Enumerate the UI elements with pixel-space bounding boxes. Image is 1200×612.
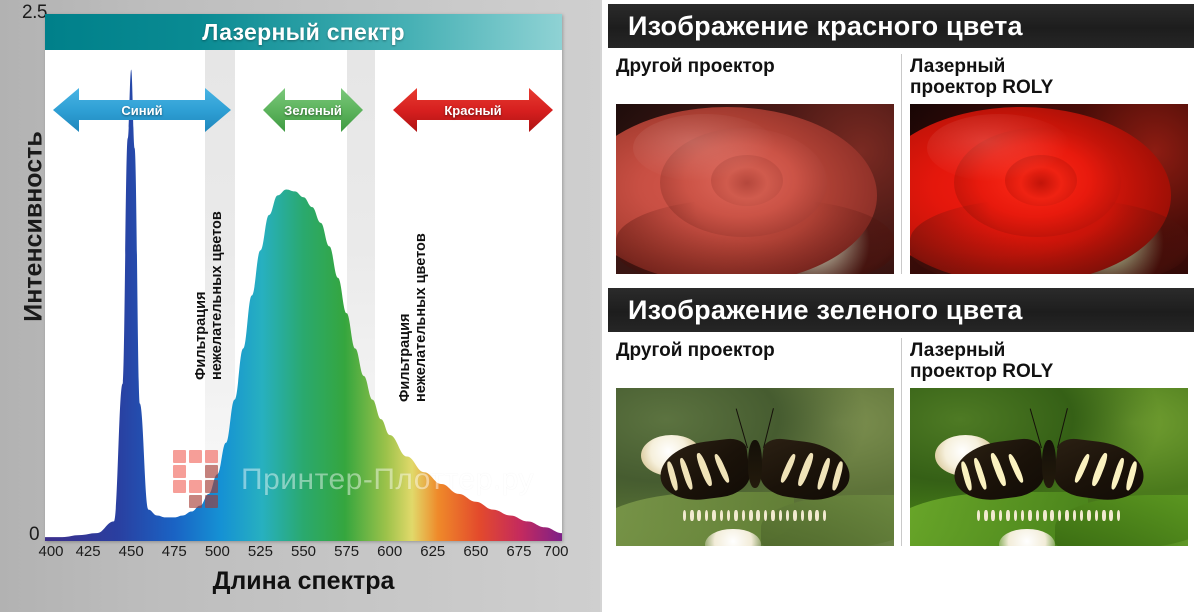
x-tick-525: 525 [248, 543, 273, 560]
filter-caption-2-line2: нежелательных цветов [413, 233, 429, 402]
photo-rose-other-projector [616, 104, 894, 274]
butterfly-wing-stripe [1007, 452, 1025, 483]
x-axis-ticks: 400425450475500525550575600625650675700 [45, 543, 562, 563]
butterfly-wing-stripe [973, 456, 989, 489]
block-header-red: Изображение красного цвета [608, 4, 1194, 48]
filter-caption-2: Фильтрация нежелательных цветов [397, 233, 429, 402]
spectrum-chart-panel: 2.5 0 Интенсивность Лазерный спектр [0, 0, 600, 612]
compare-title-roly-red: Лазерныйпроектор ROLY [910, 54, 1186, 100]
chart-title-bar: Лазерный спектр [45, 14, 562, 50]
x-tick-600: 600 [377, 543, 402, 560]
arrow-green-label: Зеленый [284, 103, 342, 118]
x-tick-625: 625 [420, 543, 445, 560]
x-tick-700: 700 [543, 543, 568, 560]
butterfly-wing-stripe [830, 460, 844, 490]
butterfly-wing-stripe [1109, 456, 1125, 489]
x-tick-475: 475 [162, 543, 187, 560]
photo-butterfly-other-projector [616, 388, 894, 546]
chart-title: Лазерный спектр [202, 19, 405, 46]
arrow-red: Красный [393, 84, 553, 136]
photo-rose-roly-projector [910, 104, 1188, 274]
block-header-green: Изображение зеленого цвета [608, 288, 1194, 332]
compare-row-green: Другой проектор Лазе [602, 332, 1200, 546]
butterfly-wing-stripe [815, 456, 831, 489]
compare-col-other-red: Другой проектор [608, 54, 901, 274]
compare-title-other-red: Другой проектор [616, 54, 893, 100]
butterfly-wing-stripe [713, 452, 731, 483]
arrow-green: Зеленый [263, 84, 363, 136]
butterfly-wing-stripe [679, 456, 695, 489]
compare-block-red: Изображение красного цвета Другой проект… [602, 4, 1200, 274]
butterfly-wing-stripe [989, 452, 1008, 487]
x-tick-425: 425 [76, 543, 101, 560]
compare-block-green: Изображение зеленого цвета Другой проект… [602, 288, 1200, 546]
x-tick-400: 400 [38, 543, 63, 560]
compare-col-roly-red: Лазерныйпроектор ROLY [901, 54, 1194, 274]
butterfly-wing-stripe [779, 452, 797, 483]
butterfly-wing-stripe [1124, 460, 1138, 490]
chart-card: Лазерный спектр [45, 14, 562, 541]
compare-title-roly-green: Лазерныйпроектор ROLY [910, 338, 1186, 384]
compare-row-red: Другой проектор Лазерныйпроектор ROLY [602, 48, 1200, 274]
x-tick-575: 575 [334, 543, 359, 560]
arrow-red-label: Красный [444, 103, 501, 118]
compare-col-roly-green: Лазерныйпроектор ROLY [901, 338, 1194, 546]
filter-caption-1-line1: Фильтрация [193, 211, 209, 380]
y-axis-max-label: 2.5 [22, 2, 47, 24]
x-tick-650: 650 [463, 543, 488, 560]
x-axis-title: Длина спектра [45, 567, 562, 596]
block-header-green-text: Изображение зеленого цвета [628, 295, 1023, 326]
butterfly-wing-stripe [960, 460, 974, 490]
x-tick-450: 450 [119, 543, 144, 560]
arrow-blue: Синий [53, 84, 231, 136]
photo-butterfly-roly-projector [910, 388, 1188, 546]
butterfly-wing-stripe [1073, 452, 1091, 483]
x-tick-500: 500 [205, 543, 230, 560]
compare-title-other-green: Другой проектор [616, 338, 893, 384]
x-tick-675: 675 [506, 543, 531, 560]
butterfly-wing-stripe [795, 452, 814, 487]
arrow-blue-label: Синий [121, 103, 162, 118]
plot-area: Синий Зеленый [45, 50, 562, 541]
filter-caption-1-line2: нежелательных цветов [209, 211, 225, 380]
butterfly-wing-stripe [1089, 452, 1108, 487]
compare-col-other-green: Другой проектор [608, 338, 901, 546]
filter-caption-1: Фильтрация нежелательных цветов [193, 211, 225, 380]
filter-caption-2-line1: Фильтрация [397, 233, 413, 402]
color-band-arrows: Синий Зеленый [45, 84, 562, 136]
butterfly-wing-stripe [666, 460, 680, 490]
x-tick-550: 550 [291, 543, 316, 560]
comparison-panel: Изображение красного цвета Другой проект… [600, 0, 1200, 612]
butterfly-wing-stripe [695, 452, 714, 487]
block-header-red-text: Изображение красного цвета [628, 11, 1023, 42]
